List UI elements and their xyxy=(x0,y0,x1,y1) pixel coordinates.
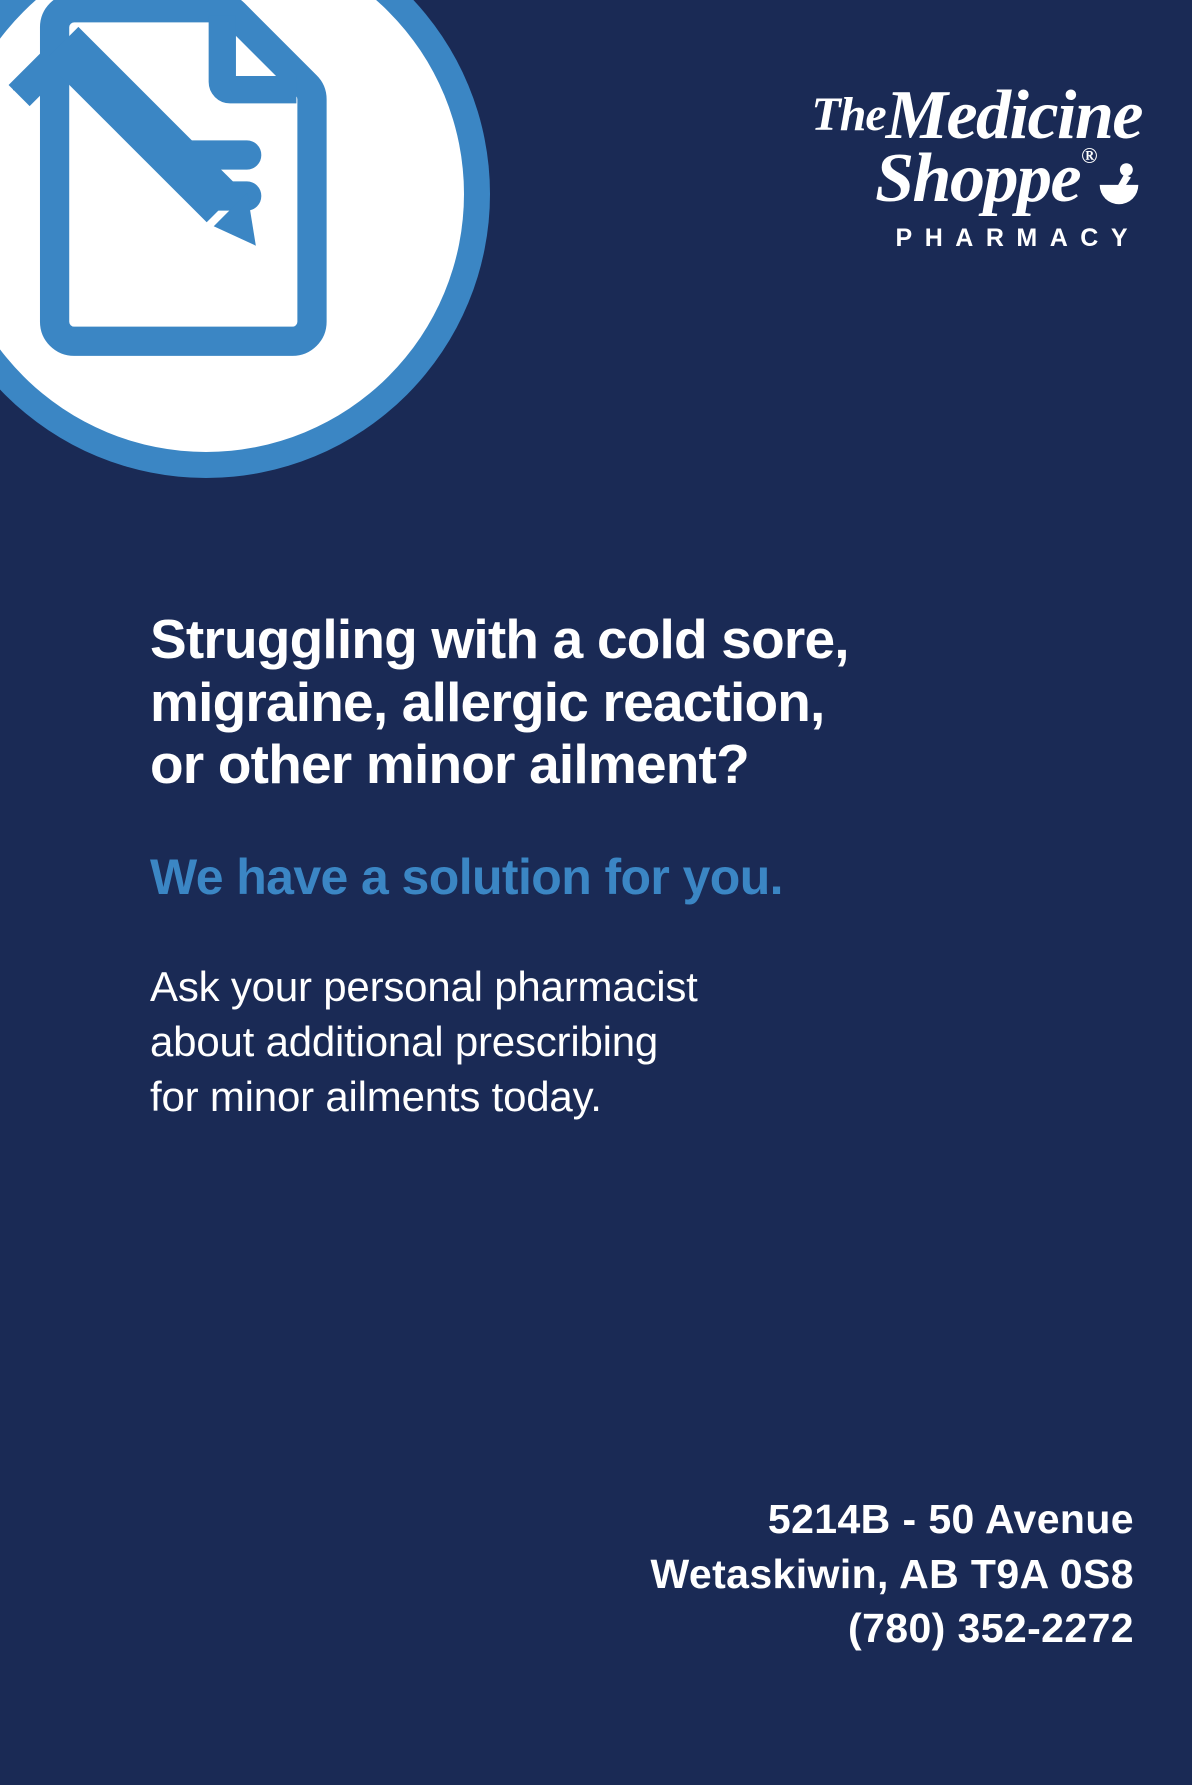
store-contact-block: 5214B - 50 Avenue Wetaskiwin, AB T9A 0S8… xyxy=(651,1492,1134,1656)
message-block: Struggling with a cold sore, migraine, a… xyxy=(150,608,1050,1125)
logo-tagline: PHARMACY xyxy=(742,224,1142,253)
registered-trademark-icon: ® xyxy=(1081,143,1096,168)
poster-canvas: TheMedicine Shoppe® PHARMACY Struggling … xyxy=(0,0,1192,1785)
body-paragraph: Ask your personal pharmacist about addit… xyxy=(150,959,1050,1125)
logo-word-shoppe: Shoppe xyxy=(875,140,1080,217)
logo-word-the: The xyxy=(811,88,885,141)
brand-logo: TheMedicine Shoppe® PHARMACY xyxy=(742,84,1142,253)
subheadline: We have a solution for you. xyxy=(150,849,1050,907)
logo-line-medicine: TheMedicine xyxy=(742,84,1142,148)
mortar-and-pestle-icon xyxy=(1096,161,1142,207)
badge-circle xyxy=(0,0,490,478)
document-with-pencil-icon xyxy=(0,0,390,390)
logo-line-shoppe: Shoppe® xyxy=(742,144,1142,214)
page-title: Struggling with a cold sore, migraine, a… xyxy=(150,608,1050,796)
